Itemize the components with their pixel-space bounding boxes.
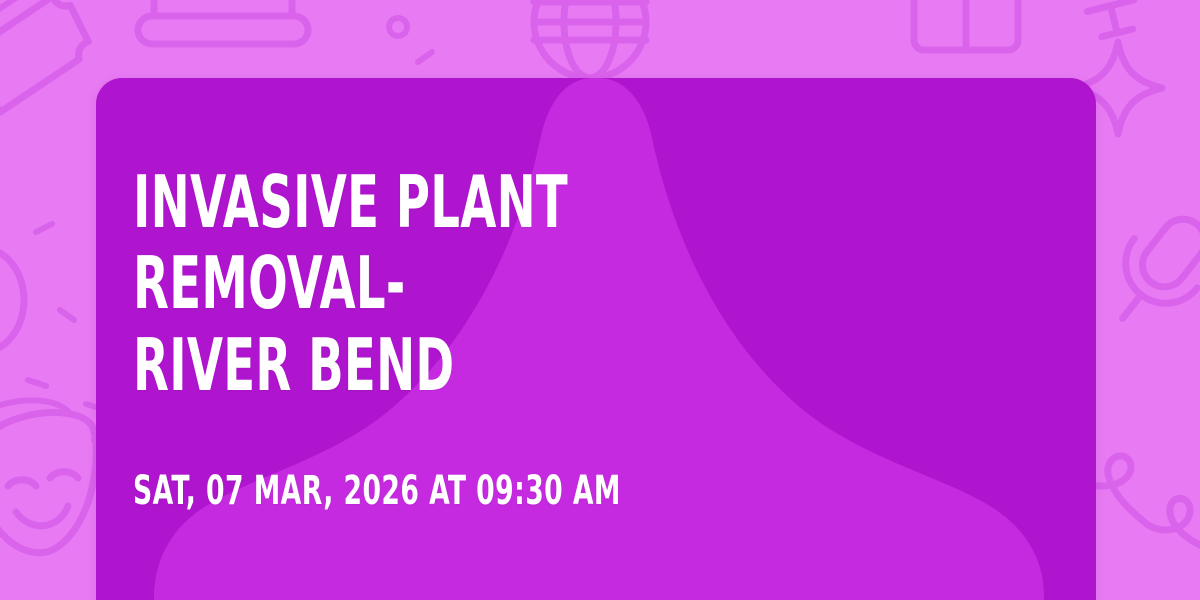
balloon-icon xyxy=(0,248,24,398)
cake-icon xyxy=(138,0,308,44)
ticket-icon xyxy=(0,0,101,119)
event-title: Invasive Plant Removal- River Bend xyxy=(133,162,798,406)
event-banner: Invasive Plant Removal- River Bend Sat, … xyxy=(0,0,1200,600)
microphone-icon xyxy=(1091,199,1200,343)
confetti-icon xyxy=(389,18,432,62)
card-content: Invasive Plant Removal- River Bend Sat, … xyxy=(133,78,1056,600)
globe-icon xyxy=(528,0,646,78)
confetti-icon xyxy=(28,224,74,386)
event-date: Sat, 07 Mar, 2026 at 09:30 AM xyxy=(133,468,621,514)
event-card[interactable]: Invasive Plant Removal- River Bend Sat, … xyxy=(96,78,1096,600)
gift-icon xyxy=(906,0,1026,50)
drum-icon xyxy=(1087,0,1140,39)
